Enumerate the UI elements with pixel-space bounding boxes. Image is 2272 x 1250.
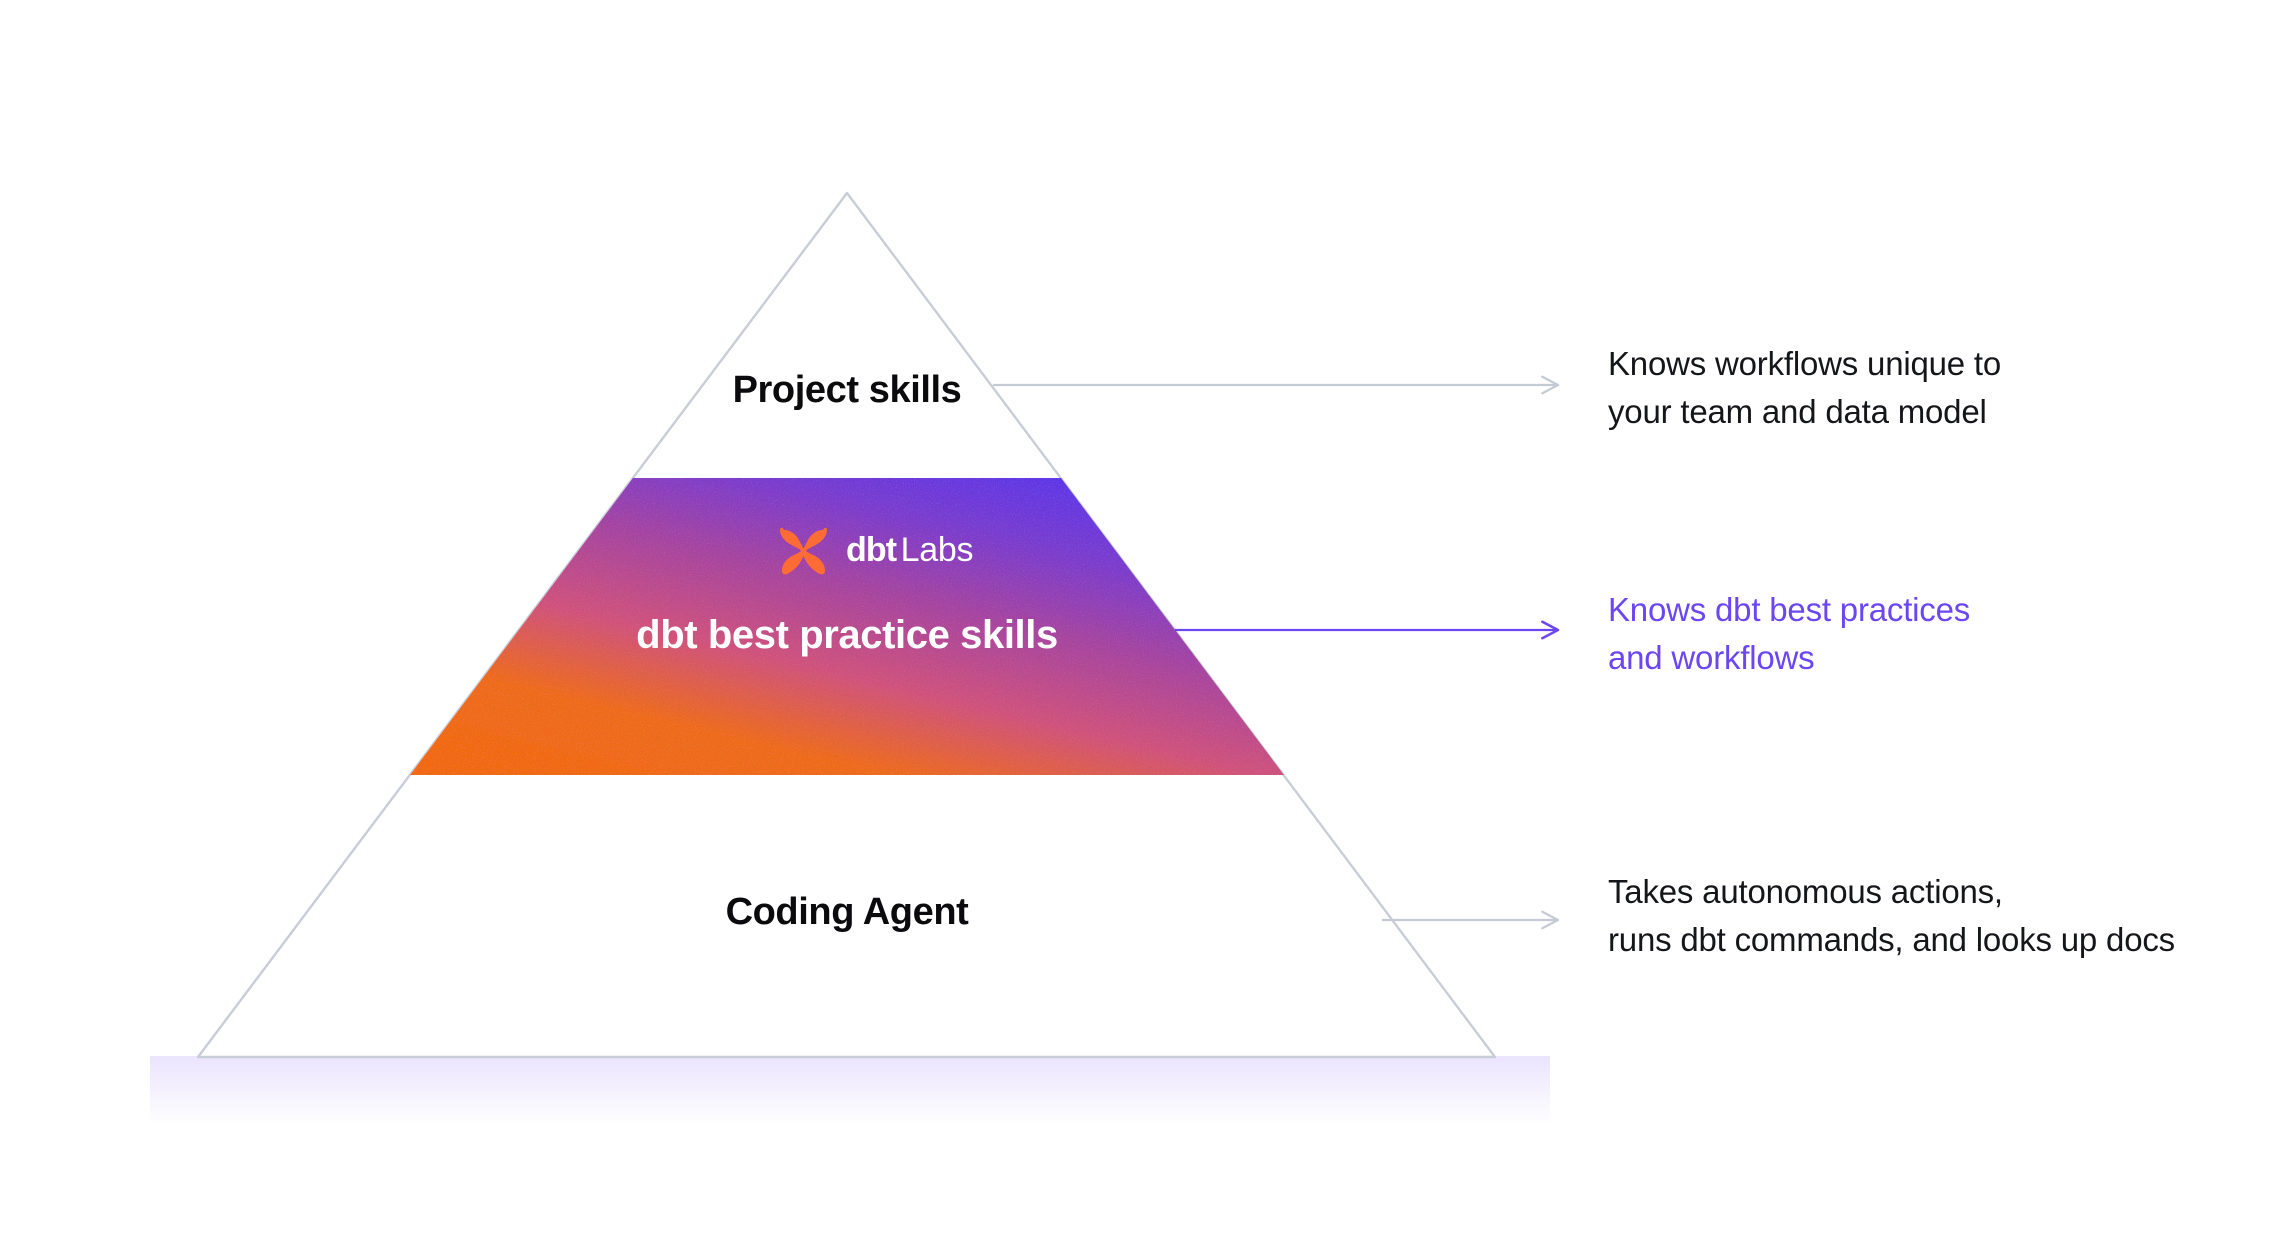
tier-label-coding-agent: Coding Agent [726,891,970,933]
annotation-project-skills: Knows workflows unique to your team and … [1608,345,2001,430]
annotation-line-1: Knows workflows unique to [1608,345,2001,382]
dbt-logo-wordmark: dbt Labs [846,531,973,569]
annotation-coding-agent: Takes autonomous actions, runs dbt comma… [1608,873,2175,958]
annotation-line-2: your team and data model [1608,393,1987,430]
annotation-line-1: Knows dbt best practices [1608,591,1970,628]
dbt-logo-word-bold: dbt [846,531,897,569]
tier-coding-agent[interactable]: Coding Agent [726,891,970,933]
tier-dbt-best-practice-skills[interactable]: dbt best practice skills [636,613,1058,657]
annotation-line-1: Takes autonomous actions, [1608,873,2003,910]
tier-project-skills[interactable]: Project skills [733,369,962,411]
dbt-logo-word-light: Labs [901,531,974,569]
annotation-line-2: and workflows [1608,639,1815,676]
diagram-canvas: Project skills dbt Labs dbt best practic… [0,0,2272,1250]
pyramid-diagram: Project skills dbt Labs dbt best practic… [0,0,2272,1250]
tier-label-dbt-best-practice-skills: dbt best practice skills [636,613,1058,657]
annotation-dbt-best-practice-skills: Knows dbt best practices and workflows [1608,591,1970,676]
base-glow [150,1056,1550,1126]
annotation-line-2: runs dbt commands, and looks up docs [1608,921,2175,958]
tier-label-project-skills: Project skills [733,369,962,411]
